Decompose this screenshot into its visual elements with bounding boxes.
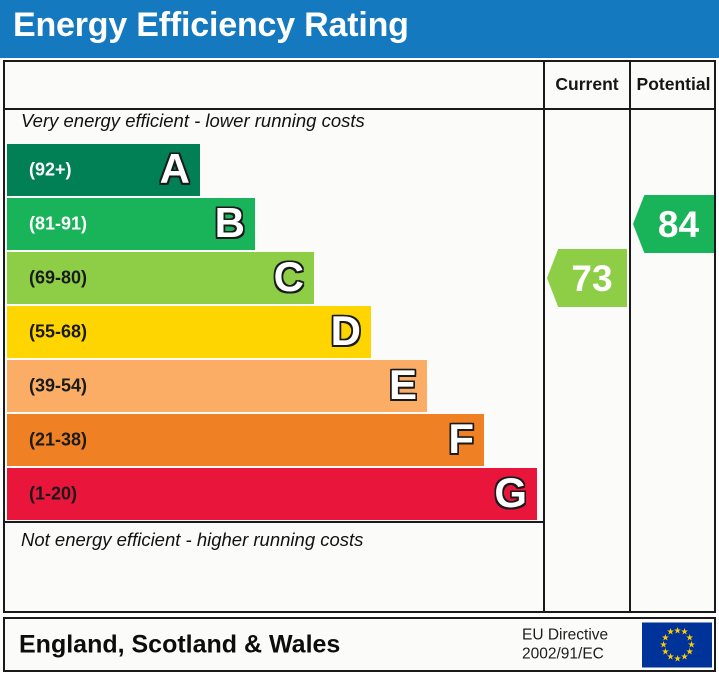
footer-directive: EU Directive 2002/91/EC <box>522 625 608 664</box>
eu-flag-star: ★ <box>667 629 674 636</box>
footer-directive-line1: EU Directive <box>522 625 608 644</box>
band-range-label: (1-20) <box>29 484 77 505</box>
potential-rating-arrow: 84 <box>633 195 714 253</box>
column-header-potential: Potential <box>631 74 716 95</box>
column-divider-potential <box>629 62 631 611</box>
column-divider-current <box>543 62 545 611</box>
band-letter-label: C <box>274 256 304 298</box>
band-range-label: (92+) <box>29 160 72 181</box>
title-bar: Energy Efficiency Rating <box>0 0 719 58</box>
eu-flag-star: ★ <box>660 641 667 648</box>
band-range-label: (55-68) <box>29 322 87 343</box>
caption-inefficient: Not energy efficient - higher running co… <box>21 529 363 551</box>
rating-band-e: (39-54)E <box>7 360 427 412</box>
potential-rating-value: 84 <box>648 206 699 243</box>
footer-region-label: England, Scotland & Wales <box>19 630 340 659</box>
band-letter-label: D <box>331 310 361 352</box>
band-range-label: (21-38) <box>29 430 87 451</box>
rating-band-c: (69-80)C <box>7 252 314 304</box>
band-letter-label: F <box>448 418 474 460</box>
energy-efficiency-certificate: Energy Efficiency Rating Current Potenti… <box>0 0 719 675</box>
footer: England, Scotland & Wales EU Directive 2… <box>3 617 716 672</box>
eu-flag-star: ★ <box>661 648 668 655</box>
current-rating-arrow: 73 <box>547 249 627 307</box>
footer-directive-line2: 2002/91/EC <box>522 645 608 664</box>
rating-band-a: (92+)A <box>7 144 200 196</box>
rating-band-g: (1-20)G <box>7 468 537 520</box>
band-range-label: (39-54) <box>29 376 87 397</box>
band-range-label: (69-80) <box>29 268 87 289</box>
band-letter-label: G <box>494 472 527 514</box>
page-title: Energy Efficiency Rating <box>13 6 409 45</box>
rating-bands: (92+)A(81-91)B(69-80)C(55-68)D(39-54)E(2… <box>5 144 543 521</box>
column-header-current: Current <box>545 74 629 95</box>
rating-band-b: (81-91)B <box>7 198 255 250</box>
caption-efficient: Very energy efficient - lower running co… <box>21 110 365 132</box>
band-letter-label: E <box>389 364 417 406</box>
band-letter-label: A <box>160 148 190 190</box>
band-letter-label: B <box>215 202 245 244</box>
eu-flag-icon: ★★★★★★★★★★★★ <box>642 622 712 667</box>
rating-table: Current Potential Very energy efficient … <box>3 60 716 613</box>
caption-divider-lower <box>5 521 543 523</box>
rating-band-f: (21-38)F <box>7 414 484 466</box>
current-rating-value: 73 <box>561 260 612 297</box>
band-range-label: (81-91) <box>29 214 87 235</box>
rating-band-d: (55-68)D <box>7 306 371 358</box>
